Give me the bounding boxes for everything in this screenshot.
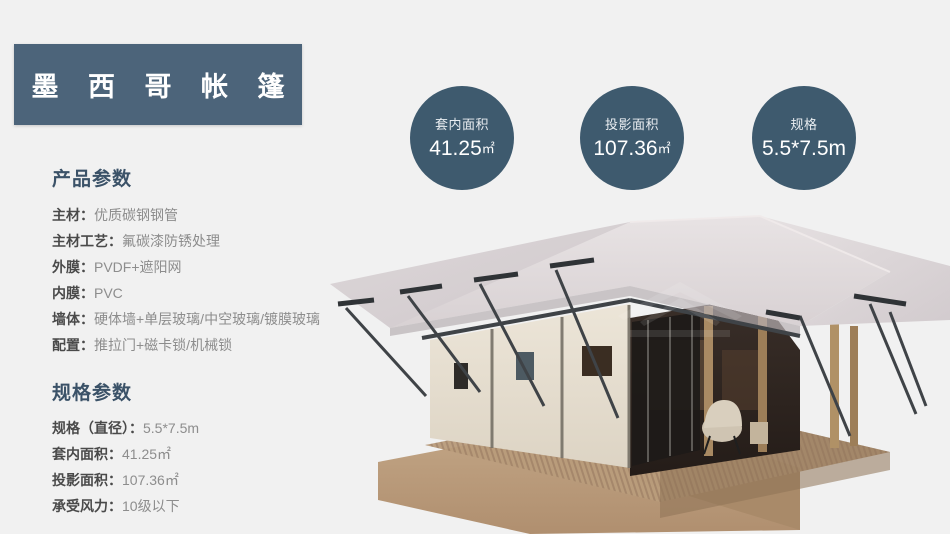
param-label: 外膜：: [52, 259, 94, 275]
param-value: 41.25㎡: [122, 446, 171, 462]
param-label: 主材工艺：: [52, 233, 122, 249]
badge-number: 41.25: [429, 137, 482, 160]
param-label: 主材：: [52, 207, 94, 223]
param-value: 优质碳钢钢管: [94, 207, 178, 223]
param-value: PVDF+遮阳网: [94, 259, 182, 275]
section-title-product-parameters: 产品参数: [52, 164, 392, 191]
badge-number: 5.5*7.5m: [762, 137, 846, 160]
sliding-glass-door: [632, 312, 700, 466]
tent-illustration: [330, 200, 950, 534]
param-label: 内膜：: [52, 285, 94, 301]
badge-number: 107.36: [593, 137, 657, 160]
badge-dimensions: 规格 5.5*7.5m: [752, 86, 856, 190]
param-value: 氟碳漆防锈处理: [122, 233, 220, 249]
param-value: 5.5*7.5m: [143, 420, 199, 436]
param-value: 10级以下: [122, 498, 180, 514]
param-value: 硬体墙+单层玻璃/中空玻璃/镀膜玻璃: [94, 311, 320, 327]
badge-value: 5.5*7.5m: [762, 138, 846, 159]
wood-column: [850, 326, 858, 446]
tent-render-image: [330, 200, 950, 534]
param-value: 107.36㎡: [122, 472, 179, 488]
steel-strut: [800, 316, 850, 436]
badge-label: 投影面积: [605, 118, 659, 131]
title-banner: 墨 西 哥 帐 篷: [14, 44, 302, 125]
param-label: 墙体：: [52, 311, 94, 327]
badge-projected-area: 投影面积 107.36㎡: [580, 86, 684, 190]
side-table: [750, 422, 768, 444]
badge-value: 107.36㎡: [593, 138, 670, 159]
param-value: 推拉门+磁卡锁/机械锁: [94, 337, 232, 353]
param-label: 承受风力：: [52, 498, 122, 514]
badge-value: 41.25㎡: [429, 138, 495, 159]
page-title: 墨 西 哥 帐 篷: [20, 65, 295, 104]
badge-group: 套内面积 41.25㎡ 投影面积 107.36㎡ 规格 5.5*7.5m: [410, 85, 890, 191]
badge-interior-area: 套内面积 41.25㎡: [410, 86, 514, 190]
badge-label: 套内面积: [435, 118, 489, 131]
param-value: PVC: [94, 285, 123, 301]
param-label: 配置：: [52, 337, 94, 353]
product-spec-page: 墨 西 哥 帐 篷 产品参数 主材：优质碳钢钢管 主材工艺：氟碳漆防锈处理 外膜…: [0, 0, 950, 534]
badge-unit: ㎡: [482, 141, 495, 156]
badge-label: 规格: [790, 118, 817, 131]
param-label: 规格（直径）：: [52, 420, 143, 436]
wood-column: [830, 322, 839, 448]
param-label: 投影面积：: [52, 472, 122, 488]
badge-unit: ㎡: [658, 141, 671, 156]
param-label: 套内面积：: [52, 446, 122, 462]
